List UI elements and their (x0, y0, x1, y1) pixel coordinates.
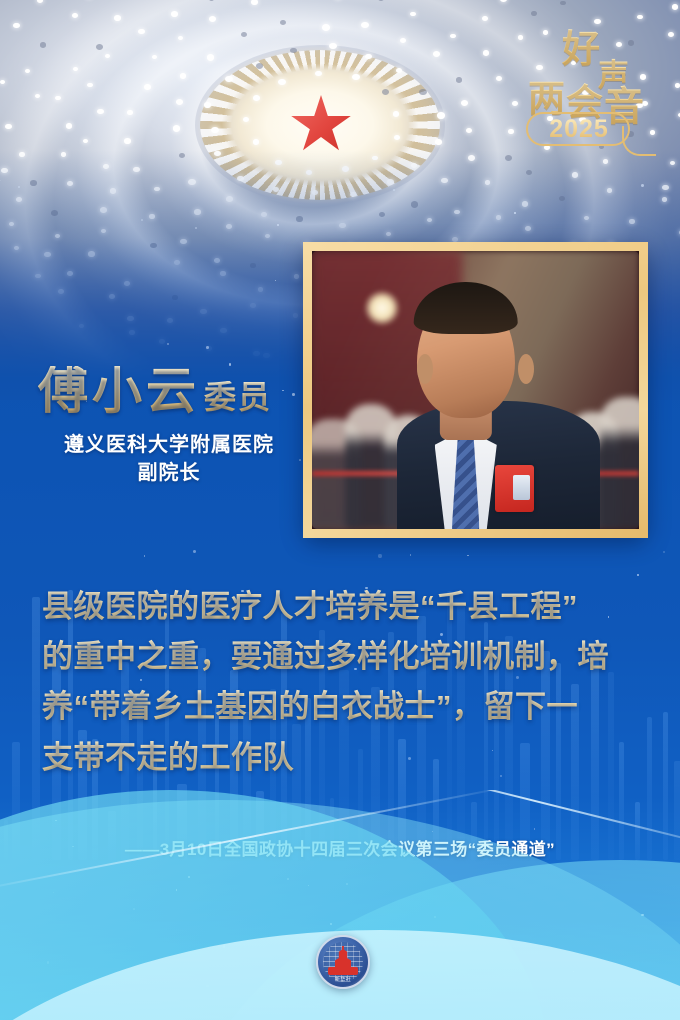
portrait-photo (312, 251, 639, 529)
speaker-name: 傅小云 (38, 366, 200, 416)
emblem-base (328, 967, 358, 975)
speaker-org-line2: 副院长 (38, 460, 300, 486)
logo-tail-stroke (622, 126, 656, 156)
portrait-lamp (364, 290, 400, 326)
quote-block: 县级医院的医疗人才培养是“千县工程” 的重中之重，要通过多样化培训机制，培 养“… (42, 582, 642, 783)
poster-root: 好 声 两 会 音 2025 傅小云 委员 (0, 0, 680, 1020)
quote-line-3: 养“带着乡土基因的白衣战士”，留下一 (42, 682, 642, 732)
fu-xiaoyun-portrait (303, 242, 648, 538)
quote-line-1: 县级医院的医疗人才培养是“千县工程” (42, 582, 642, 632)
speaker-info: 傅小云 委员 遵义医科大学附属医院 副院长 (38, 366, 300, 487)
speaker-org-line1: 遵义医科大学附属医院 (38, 432, 300, 458)
speaker-organization: 遵义医科大学附属医院 副院长 (38, 432, 300, 487)
quote-line-2: 的重中之重，要通过多样化培训机制，培 (42, 632, 642, 682)
speaker-name-line: 傅小云 委员 (38, 366, 300, 416)
logo-char-hao: 好 (562, 18, 600, 73)
logo-year: 2025 (536, 115, 622, 144)
portrait-delegate-badge (495, 465, 534, 512)
emblem-caption: 新华社 (318, 976, 368, 983)
liang-hui-hao-sheng-yin-logo: 好 声 两 会 音 2025 (534, 16, 664, 156)
speaker-role: 委员 (204, 381, 272, 413)
portrait-ear-left (417, 354, 433, 385)
quote-line-4: 支带不走的工作队 (42, 733, 642, 783)
xinhua-news-agency-emblem: 新华社 (316, 935, 370, 989)
